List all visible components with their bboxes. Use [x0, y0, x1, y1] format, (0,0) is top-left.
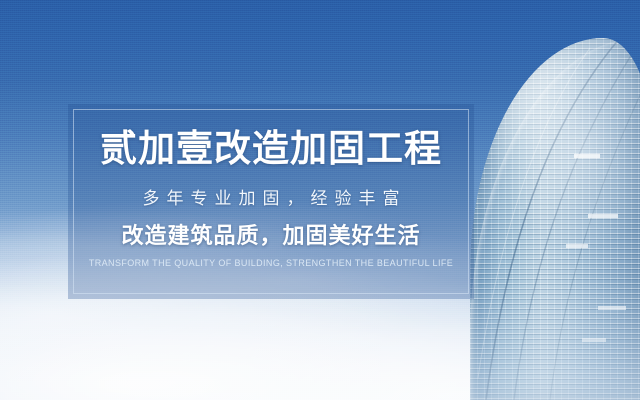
banner-english-tagline: TRANSFORM THE QUALITY OF BUILDING, STREN…	[89, 259, 453, 268]
tower-body	[470, 38, 640, 400]
banner-main-title: 贰加壹改造加固工程	[100, 130, 442, 167]
banner-slogan: 改造建筑品质，加固美好生活	[121, 225, 420, 247]
banner-subtitle: 多年专业加固，经验丰富	[136, 190, 407, 207]
panel-content: 贰加壹改造加固工程 多年专业加固，经验丰富 改造建筑品质，加固美好生活 TRAN…	[68, 104, 474, 299]
skyscraper-photo	[470, 0, 640, 400]
text-panel: 贰加壹改造加固工程 多年专业加固，经验丰富 改造建筑品质，加固美好生活 TRAN…	[68, 104, 474, 299]
tower-base-fog	[470, 280, 640, 400]
hero-banner: 贰加壹改造加固工程 多年专业加固，经验丰富 改造建筑品质，加固美好生活 TRAN…	[0, 0, 640, 400]
